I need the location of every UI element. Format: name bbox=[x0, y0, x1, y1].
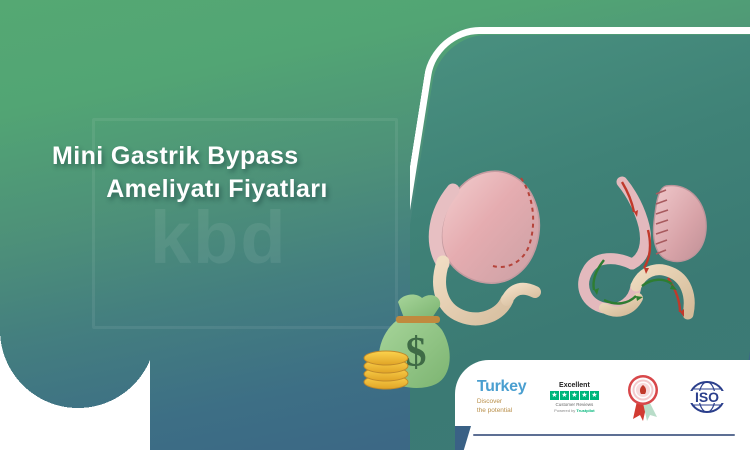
turkey-logo-tagline-1: Discover bbox=[477, 398, 526, 407]
badge-bar-notch bbox=[455, 426, 471, 450]
trustpilot-rating-label: Excellent bbox=[559, 382, 590, 389]
trustpilot-provider-name: Trustpilot bbox=[576, 408, 594, 413]
trustpilot-rating-badge[interactable]: Excellent ★ ★ ★ ★ ★ Customer Reviews Pow… bbox=[550, 382, 599, 413]
bottom-left-corner-cutout bbox=[0, 330, 150, 450]
money-bag-with-coins-icon: $ bbox=[360, 288, 465, 396]
star-icon: ★ bbox=[570, 391, 579, 400]
trustpilot-stars: ★ ★ ★ ★ ★ bbox=[550, 391, 599, 400]
trust-badge-bar: Turkey Discover the potential Excellent … bbox=[455, 360, 750, 450]
page-title-line-2: Ameliyatı Fiyatları bbox=[52, 173, 382, 206]
svg-text:ISO: ISO bbox=[695, 389, 719, 405]
star-icon: ★ bbox=[550, 391, 559, 400]
svg-text:$: $ bbox=[406, 330, 427, 376]
turkey-logo-name: Turkey bbox=[477, 379, 526, 395]
trustpilot-powered-by: Powered by Trustpilot bbox=[554, 408, 594, 413]
turkey-tourism-logo: Turkey Discover the potential bbox=[477, 379, 526, 416]
star-icon: ★ bbox=[560, 391, 569, 400]
star-icon: ★ bbox=[590, 391, 599, 400]
trustpilot-caption: Customer Reviews bbox=[556, 402, 594, 407]
treatment-price-banner: kbd Mini Gastrik Bypass Ameliyatı Fiyatl… bbox=[0, 0, 750, 450]
turkey-logo-tagline-2: the potential bbox=[477, 407, 526, 416]
page-title: Mini Gastrik Bypass Ameliyatı Fiyatları bbox=[52, 140, 382, 206]
watermark-text: kbd bbox=[150, 195, 288, 280]
badge-bar-divider bbox=[473, 434, 735, 436]
iso-certification-icon: ISO bbox=[686, 378, 728, 416]
quality-award-rosette-icon bbox=[623, 373, 663, 421]
page-title-line-1: Mini Gastrik Bypass bbox=[52, 140, 382, 173]
stomach-after-bypass-icon bbox=[570, 160, 720, 325]
star-icon: ★ bbox=[580, 391, 589, 400]
